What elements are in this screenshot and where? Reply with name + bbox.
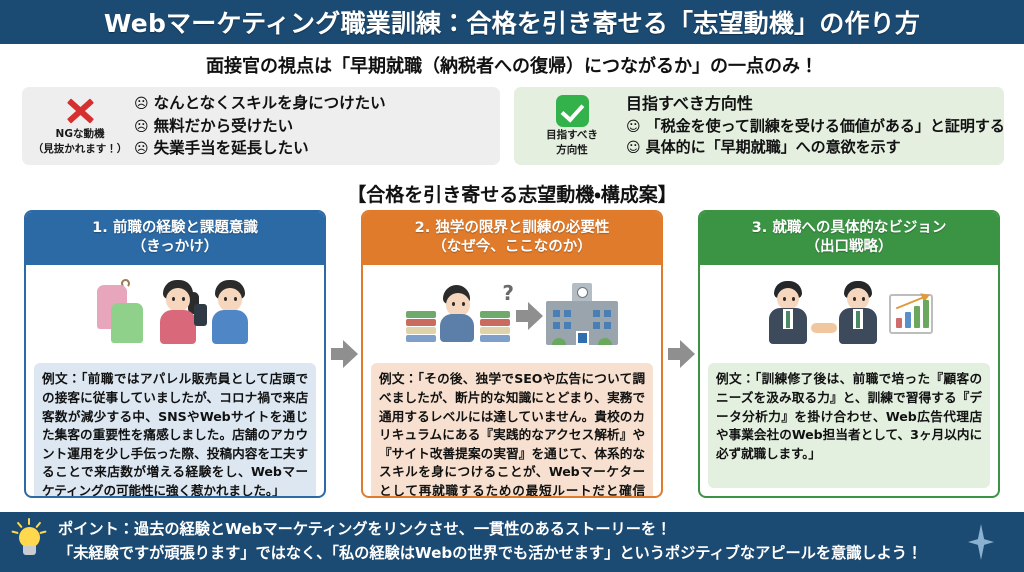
clothing-rack-icon	[97, 279, 149, 349]
x-mark-icon	[63, 96, 97, 126]
comparison-panels: NGな動機 （見抜かれます！） ☹ なんとなくスキルを身につけたい ☹ 無料だか…	[22, 87, 1004, 165]
ok-list: 目指すべき方向性 ☺ 「税金を使って訓練を受ける価値がある」と証明する ☺ 具体…	[620, 94, 1005, 158]
book-stack-icon	[480, 311, 510, 345]
list-item: ☺ 「税金を使って訓練を受ける価値がある」と証明する	[626, 116, 1005, 137]
step-card-3: 3. 就職への具体的なビジョン （出口戦略）	[698, 210, 1000, 498]
arrow-right-icon	[668, 340, 694, 368]
sad-face-icon: ☹	[134, 140, 149, 160]
step-card-3-example-text: 例文：「訓練修了後は、前職で培った『顧客のニーズを汲み取る力』と、訓練で習得する…	[708, 363, 990, 488]
struggling-student-icon	[438, 283, 478, 345]
sad-face-icon: ☹	[134, 95, 149, 115]
businessman-right-icon	[835, 278, 883, 350]
footer-point-bar: ポイント：過去の経験とWebマーケティングをリンクさせ、一貫性のあるストーリーを…	[0, 512, 1024, 572]
subtitle-text: 面接官の視点は「早期就職（納税者への復帰）につながるか」の一点のみ！	[0, 52, 1024, 78]
ng-item-text: 無料だから受けたい	[154, 115, 294, 137]
steps-card-row: 1. 前職の経験と課題意識 （きっかけ）	[24, 210, 1000, 498]
green-check-icon	[556, 95, 589, 127]
handshake-growth-illustration	[708, 271, 990, 357]
list-item: ☹ 無料だから受けたい	[134, 115, 492, 138]
handshake-icon	[811, 323, 837, 333]
arrow-between-2-3	[663, 210, 698, 498]
question-mark-icon: ?	[502, 281, 514, 305]
ng-badge: NGな動機 （見抜かれます！）	[32, 96, 128, 156]
step-card-2-body: ?	[363, 265, 661, 498]
ng-caption-line2: （見抜かれます！）	[33, 143, 128, 156]
ok-caption-line2: 方向性	[556, 144, 588, 157]
step-card-3-body: 例文：「訓練修了後は、前職で培った『顧客のニーズを汲み取る力』と、訓練で習得する…	[700, 265, 998, 496]
step-card-2-example-text: 例文：「その後、独学でSEOや広告について調べましたが、断片的な知識にとどまり、…	[371, 363, 653, 498]
step-card-2-header: 2. 独学の限界と訓練の必要性 （なぜ今、ここなのか）	[363, 212, 661, 265]
apparel-shop-illustration	[34, 271, 316, 357]
ng-motivation-panel: NGな動機 （見抜かれます！） ☹ なんとなくスキルを身につけたい ☹ 無料だか…	[22, 87, 500, 165]
list-item: ☹ なんとなくスキルを身につけたい	[134, 92, 492, 115]
smartphone-icon	[194, 304, 207, 326]
arrow-right-icon	[516, 302, 540, 326]
arrow-right-icon	[331, 340, 357, 368]
step-card-3-subtitle: （出口戦略）	[706, 238, 992, 257]
ok-heading: 目指すべき方向性	[626, 94, 1005, 115]
step-card-1-title: 1. 前職の経験と課題意識	[32, 219, 318, 238]
footer-text-block: ポイント：過去の経験とWebマーケティングをリンクさせ、一貫性のあるストーリーを…	[58, 518, 1024, 565]
smiley-face-icon: ☺	[626, 139, 641, 158]
page-title: Webマーケティング職業訓練：合格を引き寄せる「志望動機」の作り方	[104, 4, 920, 40]
infographic-page: Webマーケティング職業訓練：合格を引き寄せる「志望動機」の作り方 面接官の視点…	[0, 0, 1024, 572]
ok-badge: 目指すべき 方向性	[524, 95, 620, 157]
ok-item-text: 「税金を使って訓練を受ける価値がある」と証明する	[646, 116, 1005, 137]
ng-caption-line1: NGな動機	[56, 128, 105, 141]
ng-item-text: 失業手当を延長したい	[154, 137, 309, 159]
page-header: Webマーケティング職業訓練：合格を引き寄せる「志望動機」の作り方	[0, 0, 1024, 44]
businessman-left-icon	[765, 278, 813, 350]
smartphone-user-person-icon	[207, 278, 253, 350]
step-card-3-title: 3. 就職への具体的なビジョン	[706, 219, 992, 238]
ng-item-text: なんとなくスキルを身につけたい	[154, 92, 386, 114]
step-card-3-header: 3. 就職への具体的なビジョン （出口戦略）	[700, 212, 998, 265]
self-study-to-school-illustration: ?	[371, 271, 653, 357]
footer-line-1: ポイント：過去の経験とWebマーケティングをリンクさせ、一貫性のあるストーリーを…	[58, 518, 954, 542]
step-card-2: 2. 独学の限界と訓練の必要性 （なぜ今、ここなのか） ?	[361, 210, 663, 498]
step-card-1: 1. 前職の経験と課題意識 （きっかけ）	[24, 210, 326, 498]
step-card-2-subtitle: （なぜ今、ここなのか）	[369, 238, 655, 257]
smiley-face-icon: ☺	[626, 118, 641, 137]
ok-caption-line1: 目指すべき	[546, 129, 598, 142]
ok-item-text: 具体的に「早期就職」への意欲を示す	[646, 137, 901, 158]
step-card-1-header: 1. 前職の経験と課題意識 （きっかけ）	[26, 212, 324, 265]
step-card-1-example-text: 例文：「前職ではアパレル販売員として店頭での接客に従事していましたが、コロナ禍で…	[34, 363, 316, 498]
lightbulb-icon	[0, 519, 58, 565]
recommended-direction-panel: 目指すべき 方向性 目指すべき方向性 ☺ 「税金を使って訓練を受ける価値がある」…	[514, 87, 1004, 165]
step-card-2-title: 2. 独学の限界と訓練の必要性	[369, 219, 655, 238]
list-item: ☹ 失業手当を延長したい	[134, 137, 492, 160]
arrow-between-1-2	[326, 210, 361, 498]
book-stack-icon	[406, 311, 436, 345]
step-card-1-subtitle: （きっかけ）	[32, 238, 318, 257]
sad-face-icon: ☹	[134, 118, 149, 138]
footer-line-2: 「未経験ですが頑張ります」ではなく、「私の経験はWebの世界でも活かせます」とい…	[58, 542, 954, 566]
school-building-icon	[546, 283, 618, 345]
growth-chart-icon	[889, 294, 933, 334]
step-card-1-body: 例文：「前職ではアパレル販売員として店頭での接客に従事していましたが、コロナ禍で…	[26, 265, 324, 498]
ng-list: ☹ なんとなくスキルを身につけたい ☹ 無料だから受けたい ☹ 失業手当を延長し…	[128, 92, 492, 161]
list-item: ☺ 具体的に「早期就職」への意欲を示す	[626, 137, 1005, 158]
section-heading: 【合格を引き寄せる志望動機・構成案】	[0, 180, 1024, 207]
